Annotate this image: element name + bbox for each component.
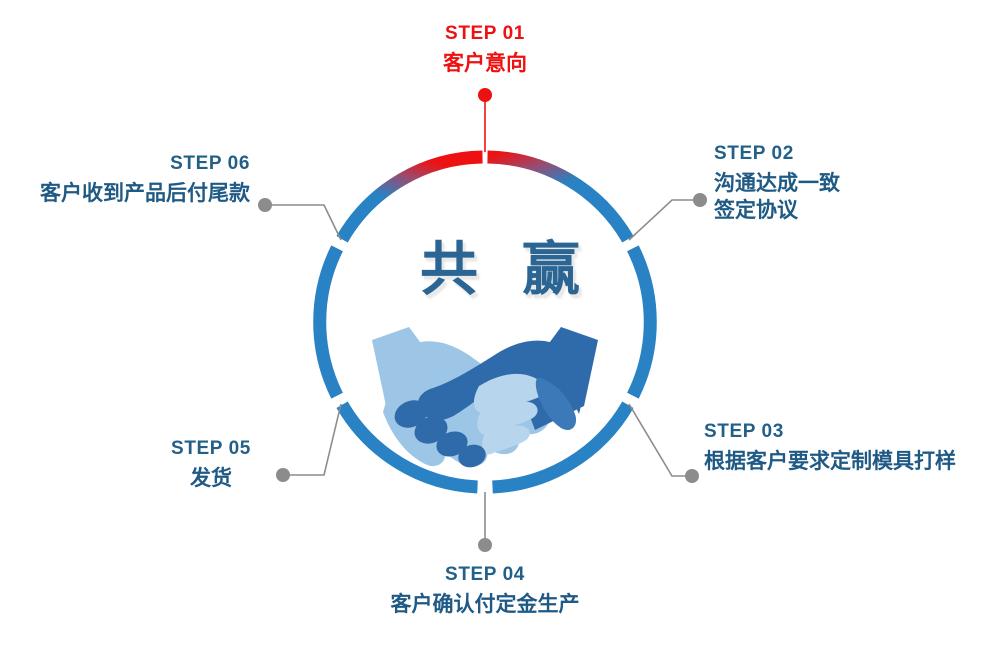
handshake-icon (0, 0, 1000, 650)
step-06-title-line-1: 客户收到产品后付尾款 (0, 181, 250, 208)
step-02-title-line-2: 签定协议 (714, 198, 840, 225)
infographic-canvas: 共 赢 STEP 01 客户意向 STEP 02 沟通达成一致 签定协议 STE… (0, 0, 1000, 650)
step-02-title-line-1: 沟通达成一致 (714, 171, 840, 198)
step-03-kicker: STEP 03 (704, 420, 956, 444)
step-02-label[interactable]: STEP 02 沟通达成一致 签定协议 (714, 142, 840, 225)
step-06-kicker: STEP 06 (0, 152, 250, 176)
step-02-kicker: STEP 02 (714, 142, 840, 166)
step-01-title: 客户意向 (385, 51, 585, 78)
step-05-title-line-1: 发货 (152, 466, 270, 493)
step-06-title: 客户收到产品后付尾款 (0, 181, 250, 208)
step-01-title-line-1: 客户意向 (385, 51, 585, 78)
step-03-title-line-1: 根据客户要求定制模具打样 (704, 449, 956, 476)
step-03-label[interactable]: STEP 03 根据客户要求定制模具打样 (704, 420, 956, 476)
step-01-kicker: STEP 01 (385, 22, 585, 46)
step-04-title-line-1: 客户确认付定金生产 (385, 592, 585, 619)
step-02-title: 沟通达成一致 签定协议 (714, 171, 840, 225)
step-04-label[interactable]: STEP 04 客户确认付定金生产 (385, 563, 585, 619)
step-06-label[interactable]: STEP 06 客户收到产品后付尾款 (0, 152, 250, 208)
step-05-title: 发货 (152, 466, 270, 493)
step-04-kicker: STEP 04 (385, 563, 585, 587)
step-04-title: 客户确认付定金生产 (385, 592, 585, 619)
step-01-label[interactable]: STEP 01 客户意向 (385, 22, 585, 78)
step-05-label[interactable]: STEP 05 发货 (152, 437, 270, 493)
step-05-kicker: STEP 05 (152, 437, 270, 461)
step-03-title: 根据客户要求定制模具打样 (704, 449, 956, 476)
